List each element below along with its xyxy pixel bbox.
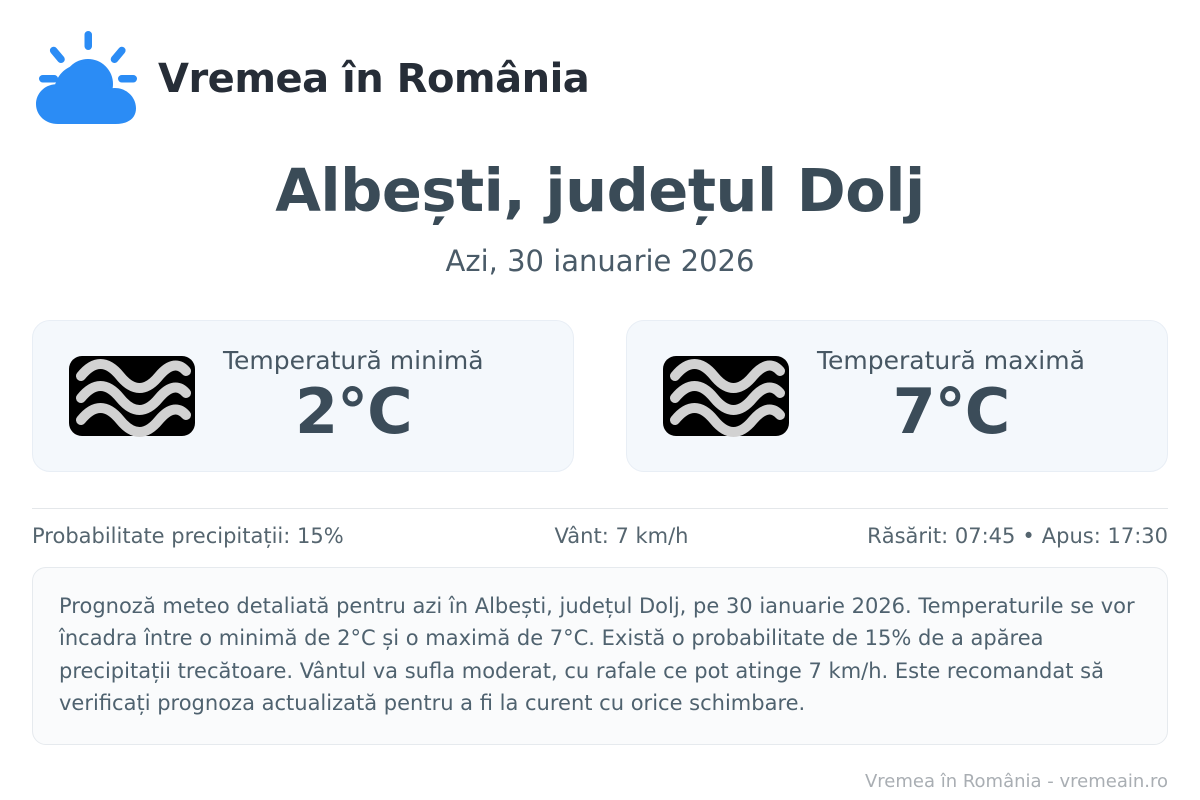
fog-waves-icon	[661, 354, 791, 438]
wind-metric: Vânt: 7 km/h	[555, 525, 782, 548]
temperature-min-label: Temperatură minimă	[223, 347, 484, 375]
temperature-min-value: 2°C	[295, 377, 412, 446]
site-header[interactable]: Vremea în România	[32, 0, 1168, 112]
precipitation-metric: Probabilitate precipitații: 15%	[32, 525, 555, 548]
temperature-max-value: 7°C	[893, 377, 1010, 446]
sunrise-value: Răsărit: 07:45	[867, 524, 1015, 548]
title-block: Albești, județul Dolj Azi, 30 ianuarie 2…	[32, 160, 1168, 278]
temperature-min-body: Temperatură minimă 2°C	[223, 345, 484, 446]
sunset-value: Apus: 17:30	[1042, 524, 1168, 548]
temperature-max-body: Temperatură maximă 7°C	[817, 345, 1085, 446]
sun-separator: •	[1015, 524, 1041, 548]
site-footer: Vremea în România - vremeain.ro	[32, 745, 1168, 793]
temperature-max-card: Temperatură maximă 7°C	[626, 320, 1168, 472]
metrics-row: Probabilitate precipitații: 15% Vânt: 7 …	[32, 509, 1168, 565]
temperature-min-card: Temperatură minimă 2°C	[32, 320, 574, 472]
page-subtitle: Azi, 30 ianuarie 2026	[32, 246, 1168, 278]
forecast-description: Prognoză meteo detaliată pentru azi în A…	[32, 567, 1168, 745]
temperature-cards: Temperatură minimă 2°C Temperatură maxim…	[32, 320, 1168, 472]
sun-behind-cloud-icon	[32, 27, 140, 131]
page-title: Albești, județul Dolj	[32, 160, 1168, 222]
brand-name: Vremea în România	[158, 58, 589, 100]
sun-times-metric: Răsărit: 07:45•Apus: 17:30	[782, 525, 1168, 548]
temperature-max-label: Temperatură maximă	[817, 347, 1085, 375]
weather-page: Vremea în România Albești, județul Dolj …	[0, 0, 1200, 800]
fog-waves-icon	[67, 354, 197, 438]
